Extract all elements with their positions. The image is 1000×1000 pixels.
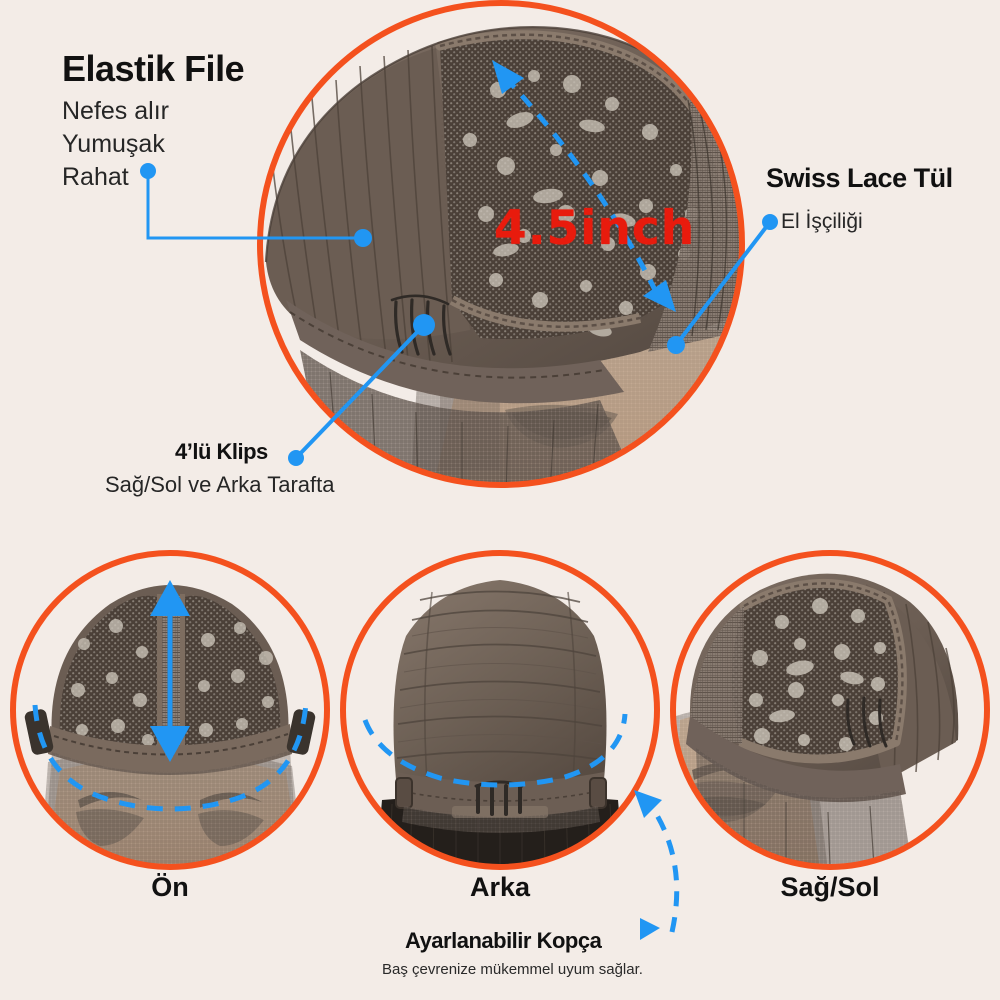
strap-title: Ayarlanabilir Kopça <box>405 928 601 954</box>
infographic-root: Elastik File Nefes alır Yumuşak Rahat Sw… <box>0 0 1000 1000</box>
section-divider <box>0 516 1000 522</box>
elastik-file-line-1: Nefes alır <box>62 95 169 128</box>
caption-side: Sağ/Sol <box>720 872 940 903</box>
measurement-label: 4.5inch <box>494 201 695 256</box>
clips-description: Sağ/Sol ve Arka Tarafta <box>105 472 335 498</box>
swiss-lace-description: El İşçiliği <box>781 210 863 234</box>
caption-back: Arka <box>390 872 610 903</box>
strap-callout-arrow <box>634 790 677 940</box>
elastik-file-description: Nefes alır Yumuşak Rahat <box>62 95 169 194</box>
elastik-file-line-2: Yumuşak <box>62 128 169 161</box>
clips-title: 4’lü Klips <box>175 439 268 465</box>
caption-front: Ön <box>60 872 280 903</box>
elastik-file-line-3: Rahat <box>62 161 169 194</box>
strap-description: Baş çevrenize mükemmel uyum sağlar. <box>382 961 643 978</box>
swiss-lace-title: Swiss Lace Tül <box>766 163 953 194</box>
elastik-file-title: Elastik File <box>62 48 244 90</box>
